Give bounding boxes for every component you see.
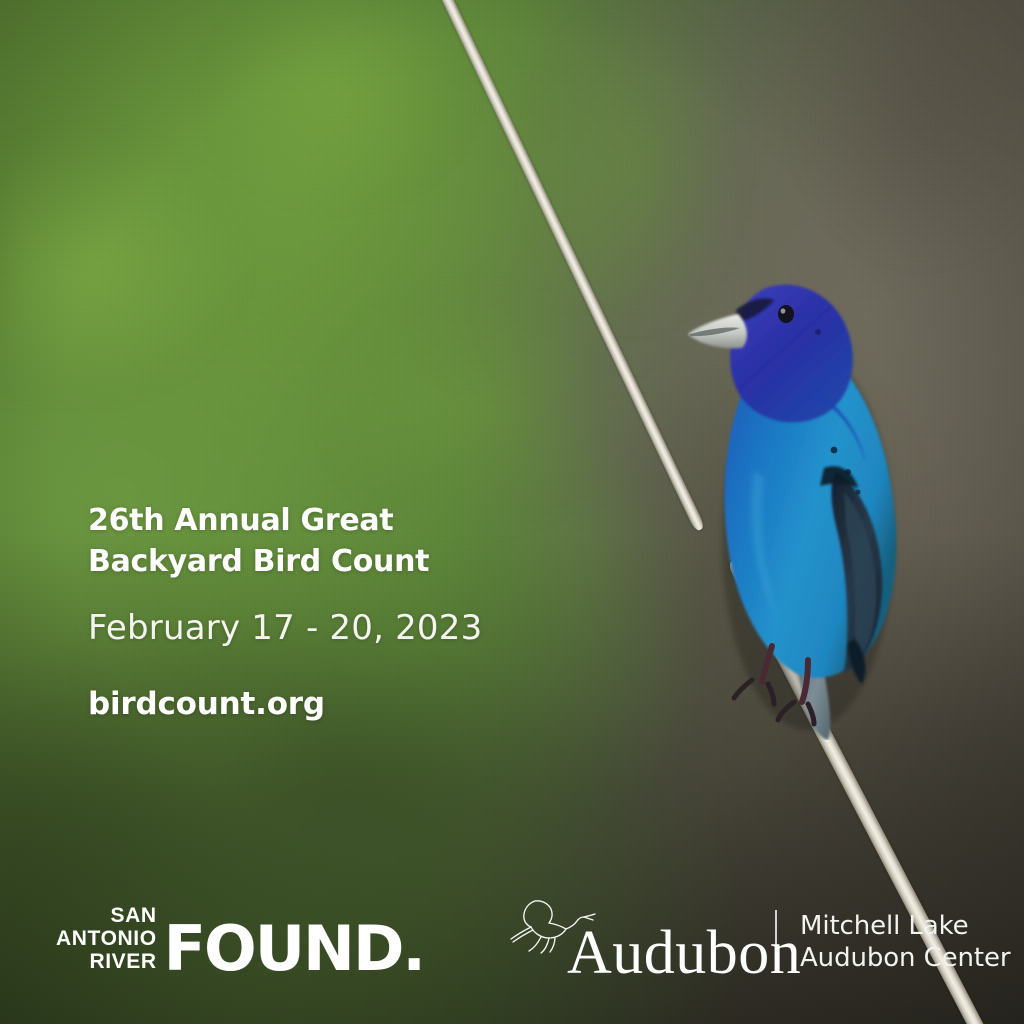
found-wordmark: FOUND.	[164, 922, 424, 976]
audubon-logo[interactable]: Audubon	[505, 898, 773, 980]
sarf-line-river: RIVER	[89, 950, 156, 973]
footer-logo-bar: SAN ANTONIO RIVER FOUND.	[0, 874, 1024, 1024]
poster-subheading: 26th Annual Great Backyard Bird Count	[88, 500, 648, 582]
san-antonio-river-stack: SAN ANTONIO RIVER	[56, 904, 157, 976]
subheading-line-2: Backyard Bird Count	[88, 541, 648, 582]
chapter-line-1: Mitchell Lake	[800, 910, 1011, 942]
indigo-bunting-bird	[668, 240, 938, 740]
audubon-mark: Audubon	[505, 898, 773, 980]
subheading-line-1: 26th Annual Great	[88, 500, 648, 541]
sarf-line-antonio: ANTONIO	[56, 927, 157, 950]
event-dates: February 17 - 20, 2023	[88, 608, 482, 648]
bird-eye	[778, 305, 794, 323]
audubon-chapter-name: Mitchell Lake Audubon Center	[800, 910, 1011, 974]
chapter-line-2: Audubon Center	[800, 942, 1011, 974]
website-url[interactable]: birdcount.org	[88, 686, 325, 722]
branch-upper-segment	[429, 0, 706, 532]
audubon-wordmark: Audubon	[567, 922, 801, 984]
audubon-divider	[775, 910, 777, 972]
san-antonio-river-found-logo[interactable]: SAN ANTONIO RIVER FOUND.	[56, 904, 424, 976]
sarf-line-san: SAN	[111, 904, 157, 927]
bird-count-poster: How many birds can you find? 26th Annual…	[0, 0, 1024, 1024]
